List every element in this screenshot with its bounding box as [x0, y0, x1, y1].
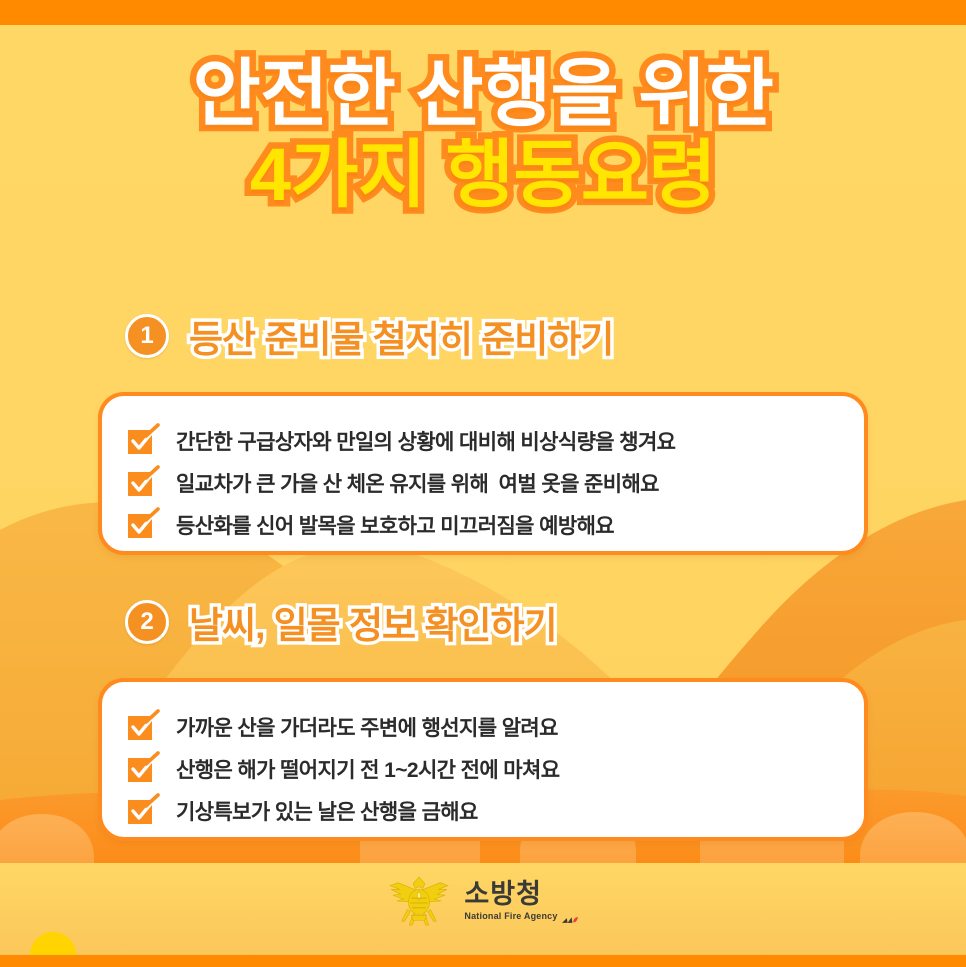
section-2-heading: 날씨, 일몰 정보 확인하기	[189, 595, 557, 649]
list-item-text: 가까운 산을 가더라도 주변에 행선지를 알려요	[176, 712, 558, 742]
checkbox-checked-icon	[128, 798, 154, 824]
checkbox-checked-icon	[128, 470, 154, 496]
list-item: 일교차가 큰 가을 산 체온 유지를 위해 여벌 옷을 준비해요	[102, 462, 864, 504]
section-2-number-badge: 2	[125, 600, 169, 644]
fire-agency-eagle-emblem-icon	[388, 875, 450, 927]
checkbox-checked-icon	[128, 428, 154, 454]
list-item: 가까운 산을 가더라도 주변에 행선지를 알려요	[102, 706, 864, 748]
swoosh-icon	[562, 912, 578, 921]
poster-root: 안전한 산행을 위한 4가지 행동요령 1 등산 준비물 철저히 준비하기 간단…	[0, 0, 966, 967]
agency-logo-text: 소방청 National Fire Agency	[464, 881, 577, 921]
checkbox-checked-icon	[128, 714, 154, 740]
section-1-heading: 등산 준비물 철저히 준비하기	[189, 309, 613, 363]
list-item-text: 산행은 해가 떨어지기 전 1~2시간 전에 마쳐요	[176, 754, 559, 784]
section-1-number-badge: 1	[125, 314, 169, 358]
poster-title: 안전한 산행을 위한 4가지 행동요령	[0, 56, 966, 213]
list-item: 산행은 해가 떨어지기 전 1~2시간 전에 마쳐요	[102, 748, 864, 790]
agency-name-en: National Fire Agency	[464, 912, 557, 921]
list-item-text: 기상특보가 있는 날은 산행을 금해요	[176, 796, 478, 826]
list-item-text: 일교차가 큰 가을 산 체온 유지를 위해 여벌 옷을 준비해요	[176, 468, 659, 498]
checkbox-checked-icon	[128, 756, 154, 782]
list-item: 등산화를 신어 발목을 보호하고 미끄러짐을 예방해요	[102, 504, 864, 546]
list-item: 간단한 구급상자와 만일의 상황에 대비해 비상식량을 챙겨요	[102, 420, 864, 462]
agency-logo: 소방청 National Fire Agency	[0, 875, 966, 927]
list-item: 기상특보가 있는 날은 산행을 금해요	[102, 790, 864, 832]
section-1-card: 간단한 구급상자와 만일의 상황에 대비해 비상식량을 챙겨요 일교차가 큰 가…	[98, 392, 868, 555]
section-2-header: 2 날씨, 일몰 정보 확인하기	[0, 594, 966, 650]
agency-name-ko: 소방청	[464, 881, 542, 908]
section-1: 1 등산 준비물 철저히 준비하기	[0, 308, 966, 364]
title-line-1: 안전한 산행을 위한	[0, 56, 966, 131]
checkbox-checked-icon	[128, 512, 154, 538]
section-2: 2 날씨, 일몰 정보 확인하기	[0, 594, 966, 650]
section-2-card: 가까운 산을 가더라도 주변에 행선지를 알려요 산행은 해가 떨어지기 전 1…	[98, 678, 868, 841]
bottom-orange-band	[0, 955, 966, 967]
title-line-2: 4가지 행동요령	[0, 137, 966, 212]
agency-name-en-row: National Fire Agency	[464, 912, 577, 921]
section-1-header: 1 등산 준비물 철저히 준비하기	[0, 308, 966, 364]
list-item-text: 등산화를 신어 발목을 보호하고 미끄러짐을 예방해요	[176, 510, 614, 540]
list-item-text: 간단한 구급상자와 만일의 상황에 대비해 비상식량을 챙겨요	[176, 426, 675, 456]
